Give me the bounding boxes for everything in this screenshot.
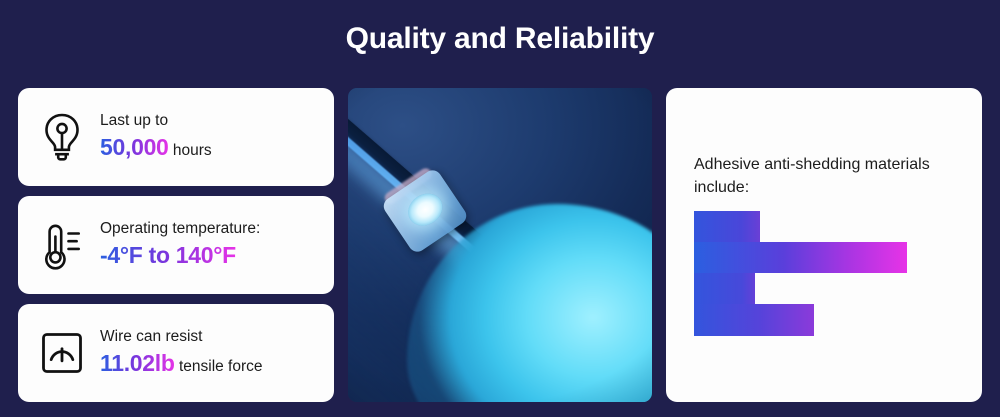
quality-reliability-banner: Quality and Reliability Last up to 50,00… — [0, 0, 1000, 417]
feature-value: -4°F to 140°F — [100, 242, 236, 268]
feature-card-list: Last up to 50,000 hours Operating temper… — [18, 88, 334, 402]
feature-suffix: tensile force — [175, 358, 263, 375]
feature-value: 50,000 — [100, 134, 169, 160]
feature-suffix: hours — [169, 142, 212, 159]
feature-card-temperature: Operating temperature: -4°F to 140°F — [18, 196, 334, 294]
feature-label: Last up to — [100, 111, 212, 132]
material-item: Fiber Cement Board, — [694, 242, 907, 273]
feature-text: Wire can resist 11.02lb tensile force — [100, 327, 263, 379]
feature-value-line: 50,000 hours — [100, 133, 212, 163]
feature-value: 11.02lb — [100, 350, 175, 376]
feature-text: Operating temperature: -4°F to 140°F — [100, 219, 260, 271]
materials-card: Adhesive anti-shedding materials include… — [666, 88, 982, 402]
feature-label: Wire can resist — [100, 327, 263, 348]
gauge-icon — [36, 327, 88, 379]
light-bulb-icon — [36, 111, 88, 163]
materials-list: Wood, Fiber Cement Board, Metal, Vinyl B… — [694, 211, 954, 336]
product-photo — [348, 88, 652, 402]
feature-value-line: -4°F to 140°F — [100, 241, 260, 271]
material-item: Metal, — [694, 273, 755, 304]
materials-intro: Adhesive anti-shedding materials include… — [694, 154, 954, 199]
thermometer-icon — [36, 219, 88, 271]
feature-value-line: 11.02lb tensile force — [100, 349, 263, 379]
feature-card-tensile: Wire can resist 11.02lb tensile force — [18, 304, 334, 402]
photo-inner — [348, 88, 652, 402]
material-item: Wood, — [694, 211, 760, 242]
feature-text: Last up to 50,000 hours — [100, 111, 212, 163]
material-item: Vinyl Board — [694, 304, 814, 335]
page-title: Quality and Reliability — [0, 22, 1000, 56]
feature-label: Operating temperature: — [100, 219, 260, 240]
feature-card-lifespan: Last up to 50,000 hours — [18, 88, 334, 186]
